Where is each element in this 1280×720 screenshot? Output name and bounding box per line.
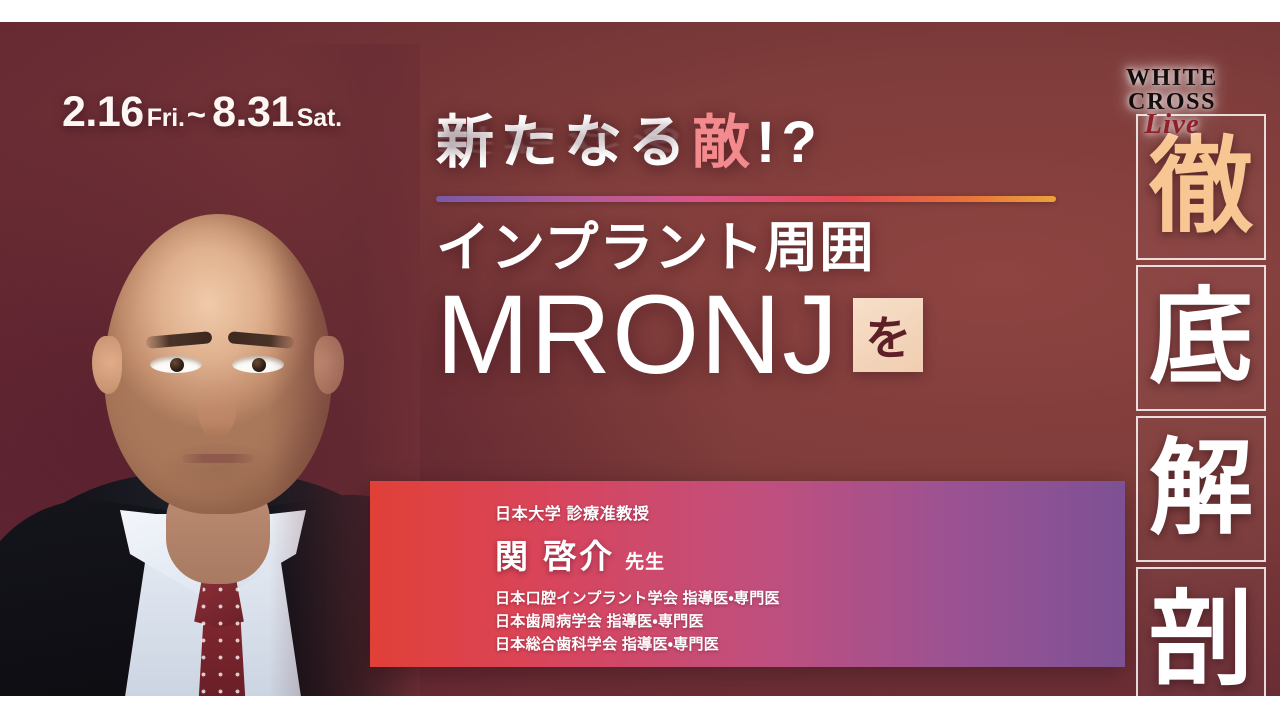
catchphrase-accent: 敵 [692,110,756,175]
main-title-row: MRONJ を [436,279,1056,391]
pupil-right [252,358,266,372]
vertical-kanji-column: 徹 底 解 剖 [1136,114,1266,696]
date-separator: ~ [187,96,206,133]
credential-item: 日本口腔インプラント学会 指導医・専門医 [495,588,1125,611]
ear-left [92,336,122,394]
speaker-honorific: 先生 [625,547,665,574]
vertical-kanji-char: 底 [1149,286,1253,390]
bottom-white-band [0,696,1280,720]
main-title: MRONJ [436,279,839,391]
nose [198,378,236,440]
event-date-range: 2.16Fri.~8.31Sat. [62,88,342,137]
speaker-affiliation: 日本大学 診療准教授 [495,505,1125,524]
credential-item: 日本歯周病学会 指導医・専門医 [495,611,1125,634]
credential-item: 日本総合歯科学会 指導医・専門医 [495,634,1125,657]
speaker-info-content: 日本大学 診療准教授 関 啓介 先生 日本口腔インプラント学会 指導医・専門医 … [370,481,1125,657]
headline-block: 新たなる敵!? 新たなる インプラント周囲 MRONJ を [436,114,1056,391]
date-start-number: 2.16 [62,88,144,136]
speaker-credentials: 日本口腔インプラント学会 指導医・専門医 日本歯周病学会 指導医・専門医 日本総… [495,588,1125,656]
seminar-banner: 2.16Fri.~8.31Sat. WHITE CROSS Live 新たなる敵… [0,0,1280,720]
gradient-divider [436,196,1056,202]
catchphrase: 新たなる敵!? 新たなる [436,114,1056,172]
banner-background: 2.16Fri.~8.31Sat. WHITE CROSS Live 新たなる敵… [0,22,1280,696]
vertical-kanji-box: 剖 [1136,567,1266,696]
logo-wordmark: WHITE CROSS [1082,66,1262,114]
particle-badge: を [853,298,923,372]
logo-live-script: Live [1082,110,1262,139]
speaker-name: 関 啓介 [495,530,615,578]
subtitle: インプラント周囲 [436,220,1056,277]
white-cross-live-logo[interactable]: WHITE CROSS Live [1082,66,1262,128]
vertical-kanji-box: 解 [1136,416,1266,562]
portrait-layers [0,44,420,696]
vertical-kanji-char: 剖 [1149,588,1253,692]
date-end-weekday: Sat. [297,104,342,132]
date-start-weekday: Fri. [147,104,185,132]
pupil-left [170,358,184,372]
ear-right [314,336,344,394]
date-end-number: 8.31 [212,88,294,136]
catchphrase-prefix: 新たなる [436,110,692,175]
mouth [182,454,254,463]
vertical-kanji-char: 解 [1149,437,1253,541]
catchphrase-suffix: !? [756,110,823,175]
speaker-info-panel: 日本大学 診療准教授 関 啓介 先生 日本口腔インプラント学会 指導医・専門医 … [370,481,1125,667]
vertical-kanji-box: 底 [1136,265,1266,411]
vertical-kanji-char: 徹 [1149,135,1253,239]
top-white-band [0,0,1280,22]
speaker-name-row: 関 啓介 先生 [495,530,1125,578]
speaker-portrait-photo [0,44,420,696]
